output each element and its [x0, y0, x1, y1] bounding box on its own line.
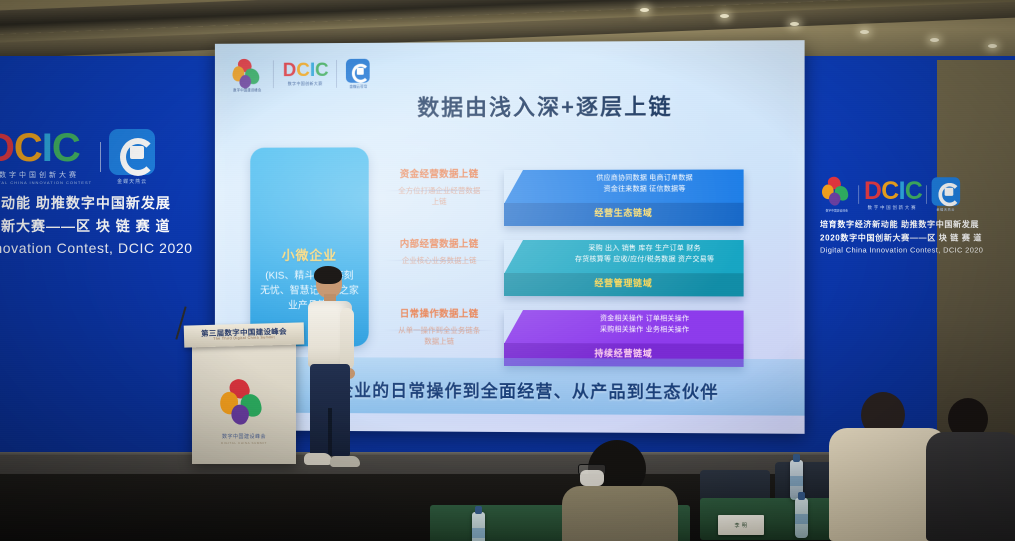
slab-tag: 经营生态链域	[504, 206, 744, 219]
shu-petal-icon	[820, 176, 853, 208]
stage-label-row: 资金经营数据上链 全方位打通企业经营数据 上链	[381, 164, 498, 226]
slab-tag: 经营管理链域	[504, 276, 744, 289]
podium-header-plate: 第三届数字中国建设峰会 The Third Digital China Summ…	[184, 322, 305, 347]
dcic-letter-c1: C	[296, 61, 309, 80]
water-bottle	[795, 498, 808, 538]
summit-logo-icon	[218, 379, 270, 429]
kingdee-caption: 金蝶天燕云	[109, 178, 155, 185]
audience-member	[580, 440, 690, 541]
banner-right-logo-row: 数字中国建设峰会 D C I C 数字中国创新大赛 金蝶天燕云	[820, 176, 983, 213]
slide-slab-middle: 采购 出入 销售 库存 生产订单 财务 存货核算等 应收/应付/税务数据 资产交…	[504, 240, 744, 296]
wall-banner-left: D C I C 数字中国创新大赛 DIGITAL CHINA INNOVATIO…	[0, 128, 193, 256]
slab-detail-lines: 资金相关操作 订单相关操作 采购相关操作 业务相关操作	[554, 314, 735, 336]
banner-divider	[858, 185, 859, 204]
banner-left-line2: 创新大赛——区 块 链 赛 道	[0, 216, 193, 236]
kingdee-logo-large: 金蝶天燕云	[931, 177, 960, 212]
ceiling-downlight	[640, 8, 649, 12]
dcic-letter-c1: C	[881, 178, 897, 203]
wall-banner-right: 数字中国建设峰会 D C I C 数字中国创新大赛 金蝶天燕云 培育数字经济新动…	[820, 176, 983, 254]
banner-right-line2: 2020数字中国创新大赛——区 块 链 赛 道	[820, 231, 983, 243]
dcic-letter-c2: C	[315, 61, 328, 80]
ceiling-downlight	[988, 44, 997, 48]
dcic-letter-c2: C	[52, 128, 78, 168]
slab-detail-lines: 供应商协同数据 电商订单数据 资金往来数据 征信数据等	[554, 174, 735, 195]
shuzi-zhongguo-logo: 数字中国建设峰会	[231, 57, 264, 91]
dcic-letter-c2: C	[905, 178, 921, 203]
slide-stage-labels: 资金经营数据上链 全方位打通企业经营数据 上链 内部经营数据上链 企业核心业务数…	[381, 164, 498, 366]
podium: 第三届数字中国建设峰会 The Third Digital China Summ…	[192, 336, 296, 464]
stage-label-row: 内部经营数据上链 企业核心业务数据上链	[381, 234, 498, 296]
speaker-shoe	[330, 456, 360, 467]
dcic-caption: 数字中国创新大赛	[0, 170, 92, 180]
ceiling-downlight	[720, 14, 729, 18]
slide-title: 数据由浅入深+逐层上链	[417, 89, 672, 122]
banner-right-line1: 培育数字经济新动能 助推数字中国新发展	[820, 218, 983, 230]
logo-divider	[337, 60, 338, 88]
banner-left-line1: 新动能 助推数字中国新发展	[0, 193, 193, 213]
slide-slab-top: 供应商协同数据 电商订单数据 资金往来数据 征信数据等 经营生态链域	[504, 169, 744, 226]
stage-label-divider	[383, 190, 496, 191]
slide-caption: 从企业的日常操作到全面经营、从产品到生态伙伴	[318, 376, 718, 403]
kingdee-logo-large: 金蝶天燕云	[109, 129, 155, 185]
speaker-arm	[340, 308, 354, 370]
stage-label-main: 日常操作数据上链	[381, 304, 498, 320]
stage-label-divider	[383, 260, 496, 261]
podium-front-panel: 数字中国建设峰会 DIGITAL CHINA SUMMIT	[204, 370, 284, 454]
shu-caption: 数字中国建设峰会	[820, 209, 853, 213]
dcic-letter-i: I	[310, 61, 314, 80]
audience-name-card: 李 明	[718, 515, 764, 535]
device-panel-title: 小微企业	[250, 245, 368, 264]
banner-divider	[926, 185, 927, 204]
banner-right-line3: Digital China Innovation Contest, DCIC 2…	[820, 245, 983, 254]
face-mask	[580, 470, 604, 486]
kingdee-logo: 金蝶云苍穹	[346, 58, 370, 89]
shuzi-zhongguo-logo-large: 数字中国建设峰会	[820, 176, 853, 213]
stage-label-sub: 全方位打通企业经营数据 上链	[381, 185, 498, 207]
conference-photo: D C I C 数字中国创新大赛 DIGITAL CHINA INNOVATIO…	[0, 0, 1015, 541]
kingdee-mark-icon	[931, 177, 960, 206]
dcic-letter-c1: C	[14, 128, 40, 168]
audience-body	[926, 432, 1015, 541]
stage-label-main: 资金经营数据上链	[381, 164, 498, 180]
kingdee-mark-icon	[346, 58, 370, 82]
water-bottle	[472, 512, 485, 541]
banner-left-logo-row: D C I C 数字中国创新大赛 DIGITAL CHINA INNOVATIO…	[0, 128, 193, 185]
ceiling-downlight	[790, 22, 799, 26]
stage-label-main: 内部经营数据上链	[381, 234, 498, 250]
speaker-hair	[314, 266, 342, 284]
logo-divider	[273, 60, 274, 88]
speaker-leg-gap	[328, 408, 332, 456]
podium-logo-caption-en: DIGITAL CHINA SUMMIT	[221, 441, 267, 445]
audience-member	[930, 398, 1015, 541]
dcic-letter-d: D	[283, 61, 296, 80]
ceiling-downlight	[860, 30, 869, 34]
kingdee-logo-caption: 金蝶云苍穹	[349, 84, 367, 89]
banner-left-line3: nnovation Contest, DCIC 2020	[0, 240, 193, 256]
dcic-letter-i: I	[42, 128, 50, 168]
dcic-logo: D C I C 数字中国创新大赛	[283, 61, 328, 87]
dcic-logo-large: D C I C 数字中国创新大赛 DIGITAL CHINA INNOVATIO…	[0, 128, 92, 185]
dcic-letter-d: D	[864, 178, 880, 203]
speaker-shoe	[304, 453, 332, 465]
dcic-caption: 数字中国创新大赛	[864, 204, 921, 210]
dcic-letter-i: I	[899, 178, 904, 203]
dcic-logo-caption: 数字中国创新大赛	[288, 81, 323, 87]
kingdee-caption: 金蝶天燕云	[931, 207, 960, 211]
slide-logo-row: 数字中国建设峰会 D C I C 数字中国创新大赛 金蝶云苍穹	[231, 57, 371, 92]
audience-body	[562, 486, 678, 541]
shu-logo-caption: 数字中国建设峰会	[228, 87, 267, 92]
podium-logo-caption: 数字中国建设峰会	[222, 433, 266, 440]
speaker-presenter	[300, 268, 362, 482]
stage-label-sub: 从单一操作到全业务链条 数据上链	[381, 325, 498, 347]
kingdee-mark-icon	[109, 129, 155, 175]
name-card-text: 李 明	[735, 522, 748, 529]
dcic-caption-en: DIGITAL CHINA INNOVATION CONTEST	[0, 180, 92, 185]
dcic-letter-d: D	[0, 128, 12, 168]
ceiling-downlight	[930, 38, 939, 42]
banner-divider	[100, 142, 101, 172]
dcic-logo-large: D C I C 数字中国创新大赛	[864, 178, 921, 210]
slab-detail-lines: 采购 出入 销售 库存 生产订单 财务 存货核算等 应收/应付/税务数据 资产交…	[554, 244, 735, 265]
